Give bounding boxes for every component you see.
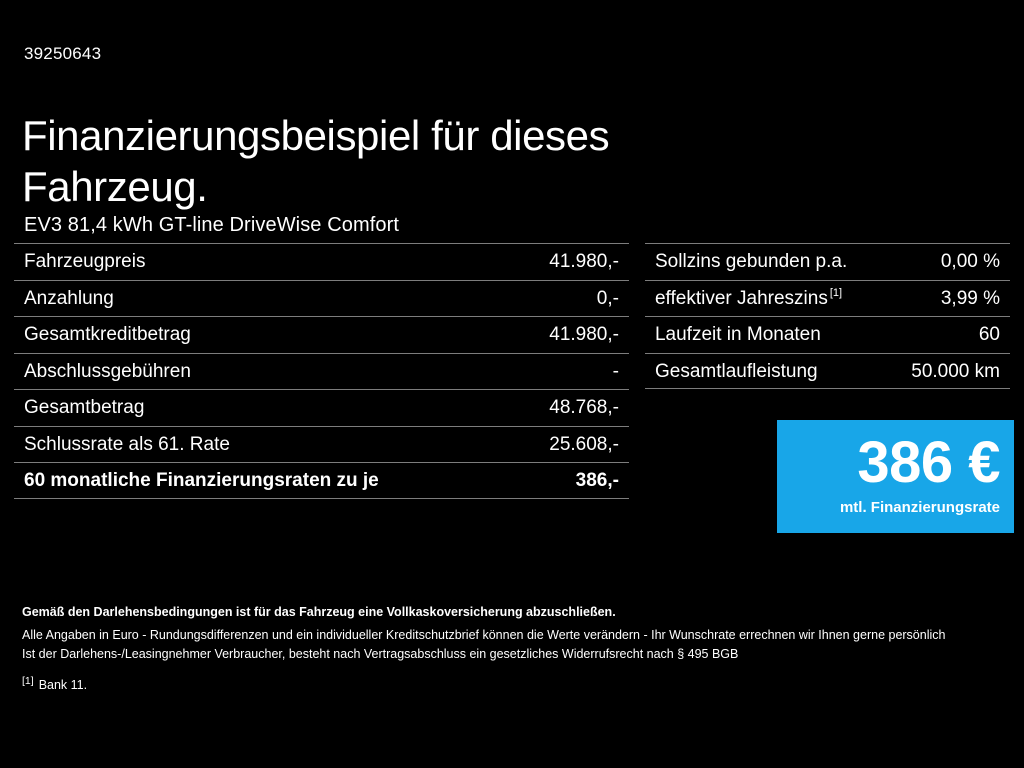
table-row: Laufzeit in Monaten 60 bbox=[645, 316, 1010, 353]
row-label: Sollzins gebunden p.a. bbox=[655, 244, 849, 280]
footnote-line-2: Ist der Darlehens-/Leasingnehmer Verbrau… bbox=[22, 645, 1012, 664]
row-value: 0,00 % bbox=[941, 244, 1000, 280]
vehicle-model-title: EV3 81,4 kWh GT-line DriveWise Comfort bbox=[24, 212, 399, 238]
row-value: 41.980,- bbox=[549, 317, 619, 353]
row-value: - bbox=[613, 354, 619, 390]
row-label-text: Sollzins gebunden p.a. bbox=[655, 251, 847, 272]
financing-example-page: 39250643 Finanzierungsbeispiel für diese… bbox=[0, 0, 1024, 768]
row-label-text: effektiver Jahreszins bbox=[655, 288, 828, 309]
footnote-marker: [1] bbox=[830, 287, 842, 299]
row-value: 60 bbox=[979, 317, 1000, 353]
table-row: Sollzins gebunden p.a. 0,00 % bbox=[645, 243, 1010, 280]
table-row-monthly-rate: 60 monatliche Finanzierungsraten zu je 3… bbox=[14, 462, 629, 499]
row-label: Gesamtbetrag bbox=[24, 390, 144, 426]
table-row: Fahrzeugpreis 41.980,- bbox=[14, 243, 629, 280]
footnote-line-1: Alle Angaben in Euro - Rundungsdifferenz… bbox=[22, 626, 1012, 645]
row-label: Anzahlung bbox=[24, 281, 114, 317]
row-label-text: Laufzeit in Monaten bbox=[655, 324, 821, 345]
row-label-text: Gesamtlaufleistung bbox=[655, 361, 818, 382]
monthly-rate-amount: 386 € bbox=[857, 432, 1000, 494]
table-row: Schlussrate als 61. Rate 25.608,- bbox=[14, 426, 629, 463]
row-value: 386,- bbox=[576, 463, 619, 499]
footnotes-block: Gemäß den Darlehensbedingungen ist für d… bbox=[22, 604, 1012, 694]
table-row: Gesamtlaufleistung 50.000 km bbox=[645, 353, 1010, 390]
table-row: effektiver Jahreszins[1] 3,99 % bbox=[645, 280, 1010, 317]
table-row: Abschlussgebühren - bbox=[14, 353, 629, 390]
row-value: 0,- bbox=[597, 281, 619, 317]
row-value: 48.768,- bbox=[549, 390, 619, 426]
row-label: Laufzeit in Monaten bbox=[655, 317, 823, 353]
page-title-line-1: Finanzierungsbeispiel für dieses bbox=[22, 110, 722, 161]
row-value: 25.608,- bbox=[549, 427, 619, 463]
row-label: Gesamtlaufleistung bbox=[655, 354, 820, 390]
table-row: Gesamtkreditbetrag 41.980,- bbox=[14, 316, 629, 353]
document-id: 39250643 bbox=[24, 44, 101, 64]
row-label: effektiver Jahreszins[1] bbox=[655, 281, 842, 317]
row-value: 3,99 % bbox=[941, 281, 1000, 317]
row-label: Gesamtkreditbetrag bbox=[24, 317, 191, 353]
table-row: Gesamtbetrag 48.768,- bbox=[14, 389, 629, 426]
table-row: Anzahlung 0,- bbox=[14, 280, 629, 317]
footnote-insurance-notice: Gemäß den Darlehensbedingungen ist für d… bbox=[22, 604, 1012, 621]
row-label: Abschlussgebühren bbox=[24, 354, 191, 390]
finance-table-left: Fahrzeugpreis 41.980,- Anzahlung 0,- Ges… bbox=[14, 243, 629, 499]
page-title-line-2: Fahrzeug. bbox=[22, 161, 722, 212]
footnote-reference-1: [1]Bank 11. bbox=[22, 677, 1012, 694]
row-label: Schlussrate als 61. Rate bbox=[24, 427, 230, 463]
row-value: 50.000 km bbox=[911, 354, 1000, 390]
footnote-reference-marker: [1] bbox=[22, 675, 34, 687]
page-title: Finanzierungsbeispiel für dieses Fahrzeu… bbox=[22, 110, 722, 212]
row-label: Fahrzeugpreis bbox=[24, 244, 145, 280]
monthly-rate-caption: mtl. Finanzierungsrate bbox=[840, 499, 1000, 517]
row-value: 41.980,- bbox=[549, 244, 619, 280]
footnote-reference-text: Bank 11. bbox=[39, 678, 87, 692]
monthly-rate-badge: 386 € mtl. Finanzierungsrate bbox=[777, 420, 1014, 533]
row-label: 60 monatliche Finanzierungsraten zu je bbox=[24, 463, 379, 499]
